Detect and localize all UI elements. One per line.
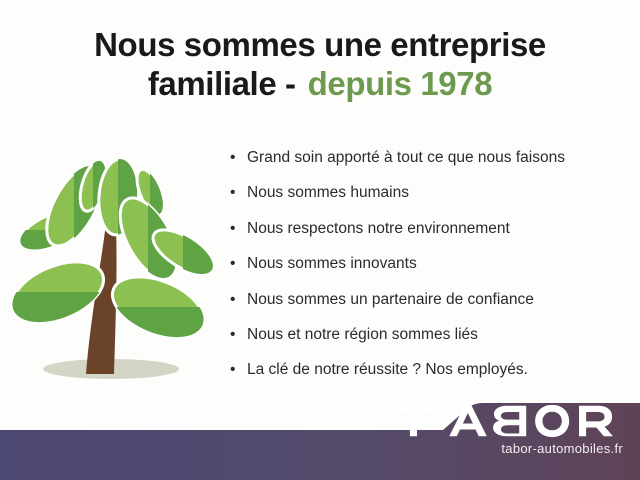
title-line-2: familiale -depuis 1978: [0, 65, 640, 104]
list-item-label: Nous sommes humains: [247, 184, 409, 201]
list-item: • Nous sommes innovants: [229, 254, 629, 273]
bullet-dot-icon: •: [230, 219, 235, 238]
bullet-dot-icon: •: [230, 148, 235, 167]
list-item: • Nous sommes humains: [229, 183, 629, 202]
footer-bar: tabor-automobiles.fr: [0, 398, 640, 480]
list-item-label: Nous sommes un partenaire de confiance: [247, 291, 534, 308]
slide-canvas: Nous sommes une entreprise familiale -de…: [0, 0, 640, 480]
bullet-dot-icon: •: [230, 254, 235, 273]
bullet-dot-icon: •: [230, 290, 235, 309]
list-item: • Nous et notre région sommes liés: [229, 325, 629, 344]
list-item-label: Nous sommes innovants: [247, 255, 417, 272]
list-item-label: La clé de notre réussite ? Nos employés.: [247, 361, 528, 378]
list-item-label: Grand soin apporté à tout ce que nous fa…: [247, 149, 565, 166]
bullet-dot-icon: •: [230, 183, 235, 202]
title-line-2-text: familiale -: [148, 65, 296, 102]
value-proposition-list: • Grand soin apporté à tout ce que nous …: [229, 148, 629, 396]
brand-logo[interactable]: tabor-automobiles.fr: [392, 404, 623, 456]
brand-tagline: tabor-automobiles.fr: [392, 441, 623, 456]
page-title: Nous sommes une entreprise familiale -de…: [0, 26, 640, 104]
list-item: • La clé de notre réussite ? Nos employé…: [229, 360, 629, 379]
list-item-label: Nous respectons notre environnement: [247, 220, 510, 237]
title-highlight-since: depuis 1978: [296, 65, 493, 102]
list-item: • Nous respectons notre environnement: [229, 219, 629, 238]
list-item: • Grand soin apporté à tout ce que nous …: [229, 148, 629, 167]
tree-svg: [8, 142, 218, 392]
list-item: • Nous sommes un partenaire de confiance: [229, 290, 629, 309]
title-line-1: Nous sommes une entreprise: [0, 26, 640, 65]
bullet-dot-icon: •: [230, 360, 235, 379]
tree-illustration: [8, 142, 218, 392]
tabor-wordmark-logo: [392, 404, 623, 438]
list-item-label: Nous et notre région sommes liés: [247, 326, 478, 343]
bullet-dot-icon: •: [230, 325, 235, 344]
